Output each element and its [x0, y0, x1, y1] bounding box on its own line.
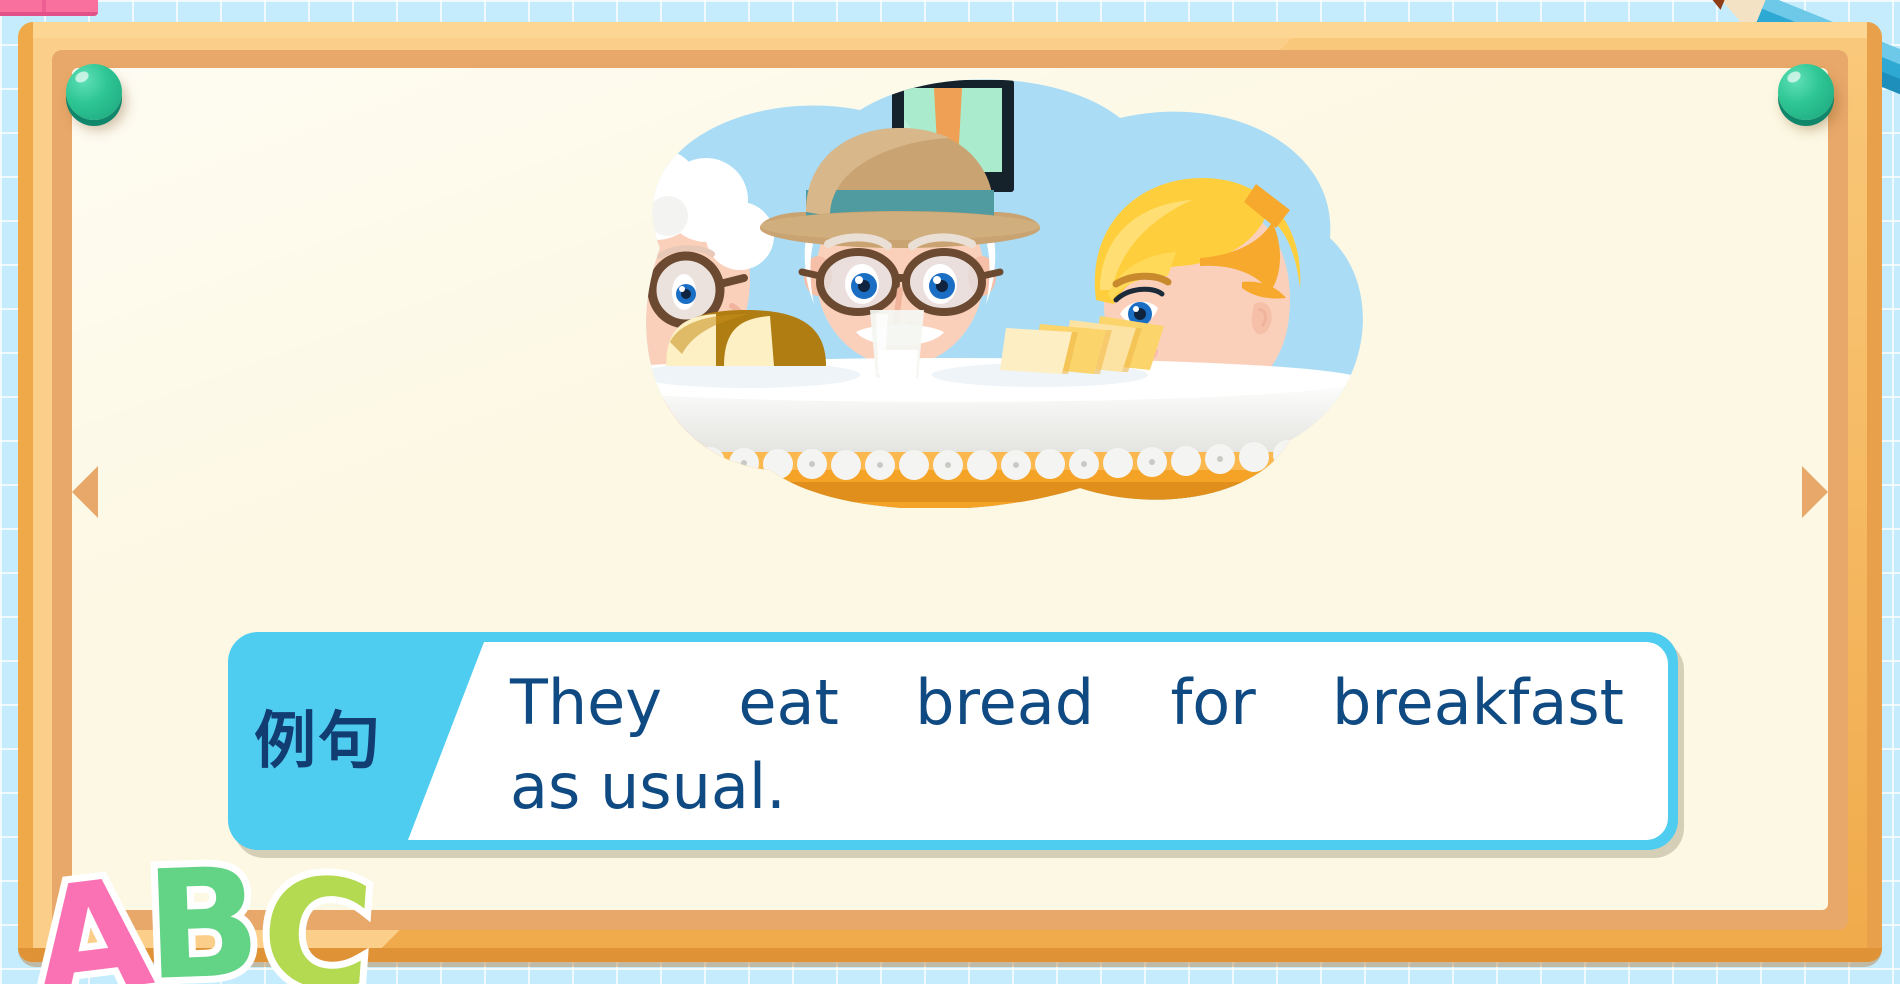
letter-c: C [257, 856, 377, 984]
paper-notch-left [72, 466, 98, 518]
card-body: 例句 They eat bread for breakfast as usual… [228, 632, 1678, 850]
letter-b: B [143, 848, 263, 984]
board-top-edge [18, 22, 1882, 38]
paper-notch-right [1802, 466, 1828, 518]
board-right-edge [1867, 22, 1882, 962]
example-label-text: 例句 [254, 710, 382, 772]
abc-letters-decoration: A B C [34, 850, 394, 984]
sentence-word: eat [738, 662, 838, 744]
sentence-line-2: as usual. [510, 746, 1624, 828]
sentence-word: for [1170, 662, 1255, 744]
family-breakfast-illustration [500, 78, 1400, 508]
board-left-edge [18, 22, 33, 962]
pushpin-top-right-icon [1778, 64, 1834, 120]
sentence-word: bread [915, 662, 1094, 744]
letter-a: A [25, 857, 159, 984]
sentence-line-1: They eat bread for breakfast [510, 662, 1624, 744]
example-sentence-text: They eat bread for breakfast as usual. [510, 662, 1624, 828]
sentence-word: They [510, 662, 662, 744]
pushpin-top-left-icon [66, 64, 122, 120]
pink-notebook-edge [0, 0, 98, 16]
example-sentence-card[interactable]: 例句 They eat bread for breakfast as usual… [228, 632, 1678, 850]
sentence-word: breakfast [1332, 662, 1624, 744]
flashcard-screen: 例句 They eat bread for breakfast as usual… [0, 0, 1900, 984]
example-label-badge: 例句 [228, 632, 408, 850]
